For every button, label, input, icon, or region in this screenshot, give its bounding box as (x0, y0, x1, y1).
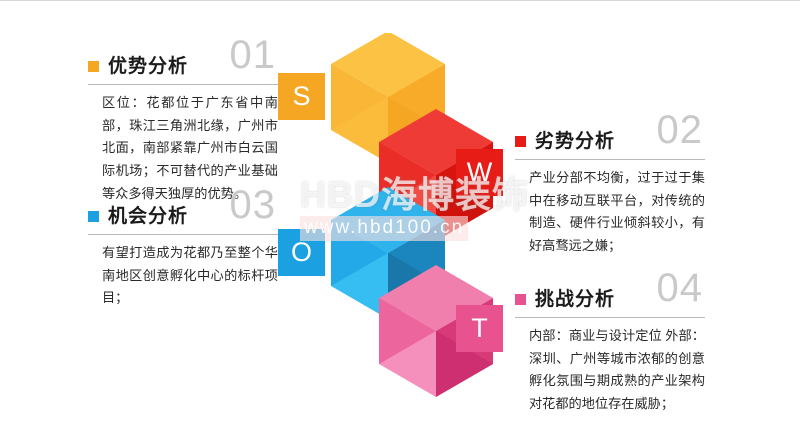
block-divider-weakness (515, 159, 705, 160)
cube-letter-o: O (278, 229, 325, 276)
block-divider-opportunity (88, 234, 278, 235)
swot-slide: 优势分析 01 区位：花都位于广东省中南部，珠江三角洲北缘，广州市北面，南部紧靠… (0, 0, 800, 444)
bullet-square-strength (88, 61, 99, 72)
cube-letter-s: S (278, 73, 325, 120)
block-body-opportunity: 有望打造成为花都乃至整个华南地区创意孵化中心的标杆项目； (88, 242, 278, 310)
block-header-opportunity: 机会分析 03 (88, 199, 278, 233)
block-header-strength: 优势分析 01 (88, 49, 278, 83)
block-number-opportunity: 03 (230, 185, 277, 225)
swot-block-weakness: 劣势分析 02 产业分部不均衡，过于过于集中在移动互联平台，对传统的制造、硬件行… (515, 124, 705, 258)
block-title-weakness: 劣势分析 (535, 126, 615, 153)
bullet-square-opportunity (88, 211, 99, 222)
block-header-weakness: 劣势分析 02 (515, 124, 705, 158)
block-body-weakness: 产业分部不均衡，过于过于集中在移动互联平台，对传统的制造、硬件行业倾斜较小，有好… (515, 167, 705, 258)
block-header-threat: 挑战分析 04 (515, 282, 705, 316)
block-title-threat: 挑战分析 (535, 284, 615, 311)
block-divider-threat (515, 317, 705, 318)
block-divider-strength (88, 84, 278, 85)
block-title-strength: 优势分析 (108, 51, 188, 78)
swot-block-opportunity: 机会分析 03 有望打造成为花都乃至整个华南地区创意孵化中心的标杆项目； (88, 199, 278, 310)
block-number-strength: 01 (230, 35, 277, 75)
block-title-opportunity: 机会分析 (108, 201, 188, 228)
cube-letter-t: T (456, 305, 503, 352)
cube-letter-w: W (456, 149, 503, 196)
block-body-threat: 内部：商业与设计定位 外部：深圳、广州等城市浓郁的创意孵化氛围与期成熟的产业架构… (515, 325, 705, 416)
swot-cube-graphic: S W O T (278, 33, 518, 403)
block-number-threat: 04 (657, 268, 704, 308)
swot-block-threat: 挑战分析 04 内部：商业与设计定位 外部：深圳、广州等城市浓郁的创意孵化氛围与… (515, 282, 705, 416)
block-number-weakness: 02 (657, 110, 704, 150)
